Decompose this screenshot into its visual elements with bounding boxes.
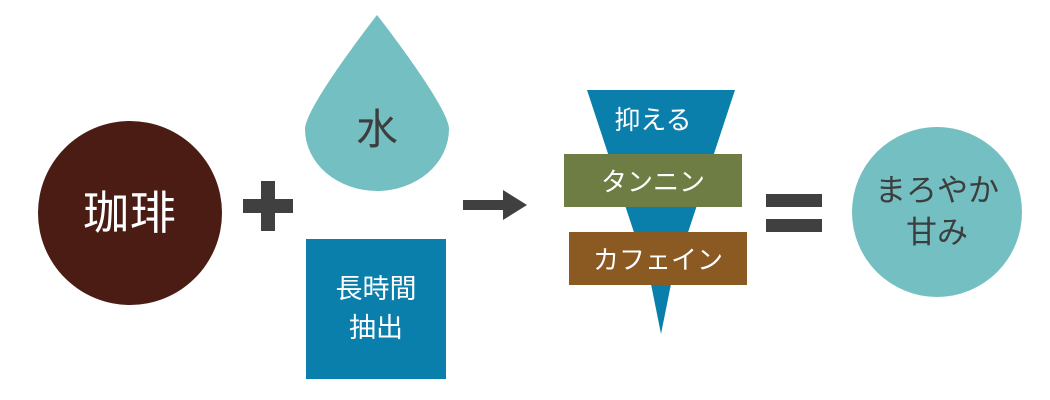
water-label: 水 [303,13,451,191]
funnel-bar-tannin-label: タンニン [601,162,705,199]
funnel-bar-caffeine-label: カフェイン [593,240,723,277]
long-brew-label: 長時間 抽出 [336,270,417,348]
long-brew-line2: 抽出 [349,313,403,343]
result-line2: 甘み [906,215,968,250]
funnel-bar-caffeine[interactable]: カフェイン [569,232,747,285]
diagram-canvas: 珈琲 水 長時間 抽出 抑える タンニン [0,0,1050,400]
arrow-right-glyph [463,188,527,222]
long-brew-line1: 長時間 [336,274,417,304]
funnel-bar-tannin[interactable]: タンニン [564,154,742,207]
arrow-right-icon [463,188,527,222]
result-label: まろやか 甘み [875,170,999,254]
equals-top-bar [766,194,822,207]
coffee-circle-node[interactable]: 珈琲 [38,121,222,305]
result-circle-node[interactable]: まろやか 甘み [852,127,1022,297]
equals-bottom-bar [766,219,822,232]
result-line1: まろやか [875,173,999,208]
plus-vertical-bar [261,181,275,231]
funnel-top-label: 抑える [563,100,743,137]
funnel-node[interactable]: 抑える タンニン カフェイン [563,88,743,336]
equals-operator-icon [766,194,822,232]
coffee-label: 珈琲 [83,188,177,239]
plus-operator-icon [243,181,293,231]
water-droplet-node[interactable]: 水 [303,13,451,191]
long-brew-square-node[interactable]: 長時間 抽出 [306,239,446,379]
